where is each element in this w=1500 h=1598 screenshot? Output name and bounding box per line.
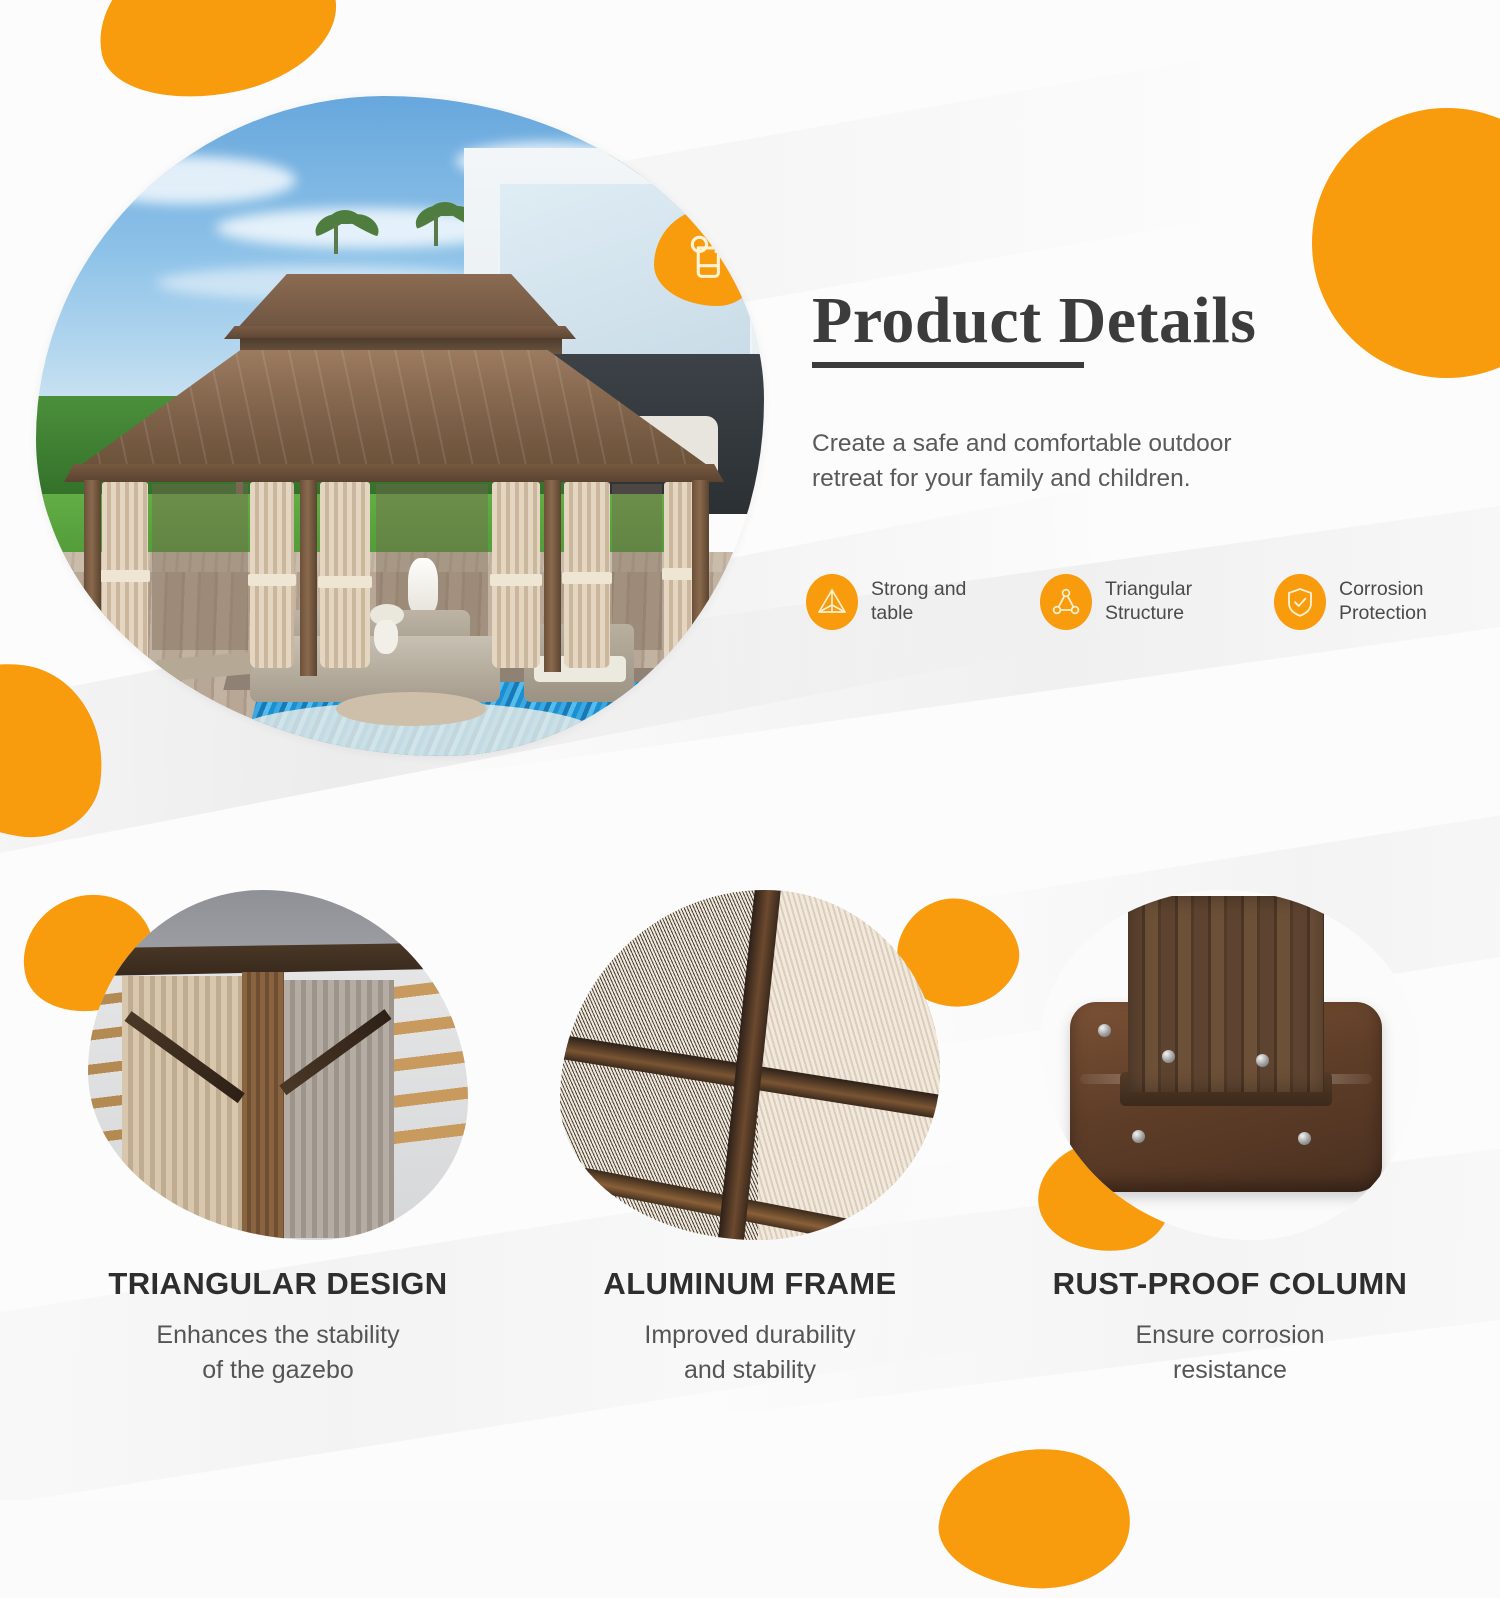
page-subtitle: Create a safe and comfortable outdoor re…: [812, 426, 1282, 497]
feature-label-line1: Strong and: [871, 578, 966, 600]
gazebo-column: [1128, 896, 1324, 1092]
hero-scene: [36, 96, 764, 756]
bolt: [1256, 1054, 1269, 1067]
hero-product-photo: [36, 96, 764, 756]
gazebo-corner-post: [242, 972, 284, 1240]
card-title: ALUMINUM FRAME: [530, 1266, 970, 1302]
card-description-line2: of the gazebo: [202, 1356, 354, 1384]
coffee-table: [336, 692, 486, 726]
bolt: [1298, 1132, 1311, 1145]
pyramid-icon: [806, 574, 858, 630]
gazebo-curtain: [122, 976, 242, 1240]
table-vase: [374, 620, 398, 654]
feature-label-line2: Structure: [1105, 602, 1184, 624]
gazebo-roof-sheen: [74, 350, 714, 470]
card-description-line1: Enhances the stability: [156, 1321, 399, 1349]
feature-label-line1: Triangular: [1105, 578, 1192, 600]
bolt: [1098, 1024, 1111, 1037]
gazebo-post: [84, 480, 101, 658]
gazebo-curtain: [320, 482, 370, 668]
shield-check-icon: [1274, 574, 1326, 630]
page-title: Product Details: [812, 286, 1452, 356]
feature-label-line2: Protection: [1339, 602, 1427, 624]
feature-label: Strong and table: [871, 578, 966, 626]
card-description-line1: Improved durability: [644, 1321, 855, 1349]
feature-label: Triangular Structure: [1105, 578, 1192, 626]
feature-corrosion-protection: Corrosion Protection: [1274, 574, 1474, 630]
garden-vase: [408, 558, 438, 614]
gazebo: [64, 274, 724, 694]
gazebo-post: [300, 480, 317, 676]
card-description-line1: Ensure corrosion: [1136, 1321, 1325, 1349]
card-description: Ensure corrosion resistance: [1010, 1318, 1450, 1387]
fabric-panel: [758, 890, 940, 1240]
cloud: [76, 156, 296, 204]
gazebo-post: [544, 480, 561, 672]
gazebo-roof-fascia: [64, 464, 724, 482]
feature-label: Corrosion Protection: [1339, 578, 1427, 626]
gazebo-mesh-netting: [152, 484, 248, 650]
feature-strong-and-stable: Strong and table: [806, 574, 1006, 630]
feature-label-line1: Corrosion: [1339, 578, 1424, 600]
product-details-panel: Product Details Create a safe and comfor…: [812, 286, 1452, 497]
gazebo-upper-roof: [234, 274, 564, 332]
card-description-line2: resistance: [1173, 1356, 1287, 1384]
feature-badge-row: Strong and table Triangular Structure: [806, 574, 1474, 630]
rust-proof-column-photo: [1040, 890, 1420, 1240]
title-underline: [812, 362, 1084, 368]
curtain-tieback: [248, 574, 296, 586]
curtain-tieback: [490, 574, 542, 586]
curtain-tieback: [318, 576, 372, 588]
card-description: Enhances the stability of the gazebo: [58, 1318, 498, 1387]
curtain-tieback: [100, 570, 150, 582]
aluminum-frame-photo: [560, 890, 940, 1240]
triangle-nodes-icon: [1040, 574, 1092, 630]
feature-triangular-structure: Triangular Structure: [1040, 574, 1240, 630]
bolt: [1132, 1130, 1145, 1143]
detail-card: ALUMINUM FRAME Improved durability and s…: [530, 890, 970, 1387]
gazebo-post: [692, 480, 709, 648]
side-table: [155, 652, 253, 682]
detail-card: TRIANGULAR DESIGN Enhances the stability…: [58, 890, 498, 1387]
card-title: TRIANGULAR DESIGN: [58, 1266, 498, 1302]
detail-card: RUST-PROOF COLUMN Ensure corrosion resis…: [1010, 890, 1450, 1387]
feature-label-line2: table: [871, 602, 913, 624]
triangular-design-photo: [88, 890, 468, 1240]
bolt: [1162, 1050, 1175, 1063]
curtain-tieback: [562, 572, 612, 584]
card-description: Improved durability and stability: [530, 1318, 970, 1387]
card-title: RUST-PROOF COLUMN: [1010, 1266, 1450, 1302]
card-description-line2: and stability: [684, 1356, 816, 1384]
